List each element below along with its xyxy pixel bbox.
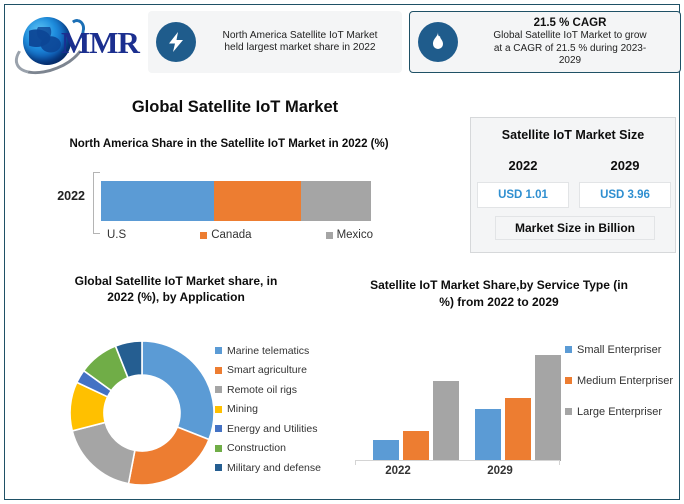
- legend-swatch-icon: [215, 406, 222, 413]
- market-size-year-2029: 2029: [582, 158, 668, 173]
- stacked-bar-segment-us: [101, 181, 214, 221]
- legend-swatch-icon: [215, 464, 222, 471]
- legend-swatch-icon: [565, 408, 572, 415]
- legend-label: Large Enterpriser: [577, 406, 662, 418]
- donut-legend-item: Energy and Utilities: [215, 419, 355, 439]
- legend-label: Construction: [227, 442, 286, 454]
- flame-icon: [418, 22, 458, 62]
- donut-segment-smart-agriculture: [129, 427, 209, 485]
- legend-label: U.S: [107, 229, 126, 241]
- mmr-logo: MMR: [11, 11, 139, 73]
- grouped-bar-tick-left: [355, 460, 356, 465]
- legend-swatch-icon: [200, 232, 207, 239]
- legend-swatch-icon: [215, 445, 222, 452]
- donut-chart-svg: [62, 333, 222, 493]
- infographic-frame: MMR North America Satellite IoT Market h…: [4, 4, 680, 500]
- legend-swatch-icon: [215, 347, 222, 354]
- legend-label: Remote oil rigs: [227, 384, 297, 396]
- stacked-bar-legend: U.SCanadaMexico: [95, 229, 385, 241]
- grouped-bar-xlabel-2022: 2022: [358, 465, 438, 477]
- badge-line: North America Satellite IoT Market: [204, 30, 396, 43]
- lightning-bolt-icon: [156, 22, 196, 62]
- donut-legend-item: Construction: [215, 439, 355, 459]
- grouped-bar-legend-item: Large Enterpriser: [565, 405, 684, 420]
- badge-cagr: 21.5 % CAGR Global Satellite IoT Market …: [409, 11, 681, 73]
- badge-line: Global Satellite IoT Market to grow: [466, 30, 674, 43]
- grouped-bar-medium-enterpriser-2022: [403, 431, 429, 461]
- grouped-bar-tick-right: [559, 460, 560, 465]
- badge-north-america: North America Satellite IoT Market held …: [148, 11, 402, 73]
- grouped-bar-small-enterpriser-2022: [373, 440, 399, 461]
- stacked-bar-category-label: 2022: [33, 189, 85, 203]
- stacked-bar-segment-mexico: [301, 181, 371, 221]
- badge-north-america-text: North America Satellite IoT Market held …: [204, 30, 402, 55]
- donut-segment-marine-telematics: [142, 341, 214, 440]
- grouped-bar-large-enterpriser-2022: [433, 381, 459, 461]
- legend-swatch-icon: [215, 425, 222, 432]
- badge-cagr-text: 21.5 % CAGR Global Satellite IoT Market …: [466, 16, 680, 68]
- stacked-bar-legend-item: Mexico: [326, 229, 373, 241]
- grouped-bar-legend: Small EnterpriserMedium EnterpriserLarge…: [565, 343, 684, 436]
- badge-line: held largest market share in 2022: [204, 42, 396, 55]
- brand-name: MMR: [61, 25, 139, 61]
- legend-swatch-icon: [215, 386, 222, 393]
- legend-label: Small Enterpriser: [577, 344, 661, 356]
- grouped-bar-legend-item: Small Enterpriser: [565, 343, 684, 358]
- grouped-bar-medium-enterpriser-2029: [505, 398, 531, 461]
- donut-legend-item: Remote oil rigs: [215, 380, 355, 400]
- market-size-year-2022: 2022: [480, 158, 566, 173]
- market-size-heading: Satellite IoT Market Size: [471, 128, 675, 142]
- market-size-value-2022: USD 1.01: [477, 182, 569, 208]
- legend-label: Smart agriculture: [227, 364, 307, 376]
- donut-legend-item: Marine telematics: [215, 341, 355, 361]
- stacked-bar-legend-item: Canada: [200, 229, 251, 241]
- grouped-bar-title: Satellite IoT Market Share,by Service Ty…: [365, 277, 633, 311]
- stacked-bar-legend-item: U.S: [107, 229, 126, 241]
- donut-chart-title: Global Satellite IoT Market share, in 20…: [67, 273, 285, 305]
- badge-line: at a CAGR of 21.5 % during 2023-: [466, 43, 674, 56]
- donut-chart-legend: Marine telematicsSmart agricultureRemote…: [215, 341, 355, 478]
- stacked-bar-title: North America Share in the Satellite IoT…: [29, 136, 429, 152]
- grouped-bar-legend-item: Medium Enterpriser: [565, 374, 684, 389]
- market-size-panel: Satellite IoT Market Size 2022 2029 USD …: [470, 117, 676, 253]
- legend-label: Medium Enterpriser: [577, 375, 673, 387]
- stacked-bar-segment-canada: [214, 181, 300, 221]
- market-size-unit: Market Size in Billion: [495, 216, 655, 240]
- legend-label: Mining: [227, 403, 258, 415]
- grouped-bar-large-enterpriser-2029: [535, 355, 561, 461]
- donut-segment-remote-oil-rigs: [72, 422, 135, 483]
- legend-swatch-icon: [215, 367, 222, 374]
- legend-label: Canada: [211, 229, 251, 241]
- cagr-value: 21.5 % CAGR: [466, 16, 674, 30]
- grouped-bar-small-enterpriser-2029: [475, 409, 501, 461]
- stacked-bar: [101, 181, 371, 221]
- donut-chart: [62, 333, 222, 493]
- page-title: Global Satellite IoT Market: [25, 98, 445, 117]
- legend-label: Military and defense: [227, 462, 321, 474]
- legend-label: Marine telematics: [227, 345, 309, 357]
- grouped-bar-group-2022: [373, 381, 459, 461]
- stacked-bar-axis-bracket: [93, 172, 100, 234]
- badge-line: 2029: [466, 55, 674, 68]
- legend-swatch-icon: [326, 232, 333, 239]
- legend-label: Mexico: [337, 229, 373, 241]
- grouped-bar-plot: [355, 335, 555, 461]
- donut-legend-item: Military and defense: [215, 458, 355, 478]
- grouped-bar-group-2029: [475, 355, 561, 461]
- grouped-bar-baseline: [355, 460, 560, 461]
- donut-legend-item: Smart agriculture: [215, 361, 355, 381]
- market-size-value-2029: USD 3.96: [579, 182, 671, 208]
- legend-swatch-icon: [565, 377, 572, 384]
- donut-legend-item: Mining: [215, 400, 355, 420]
- legend-swatch-icon: [565, 346, 572, 353]
- grouped-bar-xlabel-2029: 2029: [460, 465, 540, 477]
- legend-label: Energy and Utilities: [227, 423, 317, 435]
